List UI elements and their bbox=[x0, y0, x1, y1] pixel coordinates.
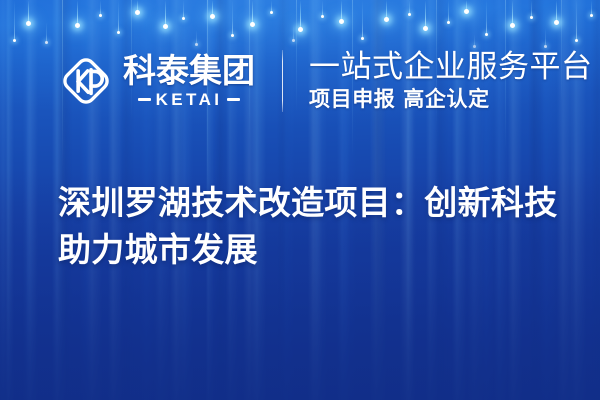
brand-wordmark: 科泰集团 KETAI bbox=[123, 54, 255, 108]
light-meteor bbox=[183, 0, 184, 18]
light-meteor bbox=[300, 0, 301, 30]
slogan-main-text: 一站式企业服务平台 bbox=[309, 52, 593, 84]
brand-name-cn: 科泰集团 bbox=[123, 54, 255, 87]
light-meteor bbox=[409, 0, 410, 14]
ketai-diamond-kp-logo-icon bbox=[58, 53, 114, 109]
light-meteor bbox=[591, 0, 592, 15]
light-meteor bbox=[232, 0, 233, 35]
light-meteor bbox=[212, 0, 213, 17]
light-meteor bbox=[512, 0, 513, 26]
light-meteor bbox=[448, 0, 449, 22]
light-meteor bbox=[425, 0, 426, 29]
light-meteor bbox=[196, 30, 197, 44]
light-meteor bbox=[474, 34, 475, 46]
light-meteor bbox=[466, 0, 467, 12]
light-meteor bbox=[293, 24, 294, 40]
light-meteor bbox=[46, 22, 47, 42]
brand-name-en-row: KETAI bbox=[138, 91, 241, 108]
light-meteor bbox=[100, 0, 101, 15]
slogan-block: 一站式企业服务平台 项目申报 高企认定 bbox=[309, 52, 593, 111]
light-meteor bbox=[556, 0, 557, 23]
rule-left-icon bbox=[138, 98, 151, 101]
light-meteor bbox=[137, 0, 138, 13]
light-meteor bbox=[28, 0, 29, 24]
slogan-sub-text: 项目申报 高企认定 bbox=[309, 88, 593, 110]
banner-headline: 深圳罗湖技术改造项目：创新科技助力城市发展 bbox=[58, 180, 558, 274]
light-meteor bbox=[271, 0, 272, 12]
light-meteor bbox=[77, 0, 78, 26]
light-meteor bbox=[341, 0, 342, 22]
header-divider bbox=[282, 50, 283, 112]
light-meteor bbox=[386, 0, 387, 20]
promo-banner: 科泰集团 KETAI 一站式企业服务平台 项目申报 高企认定 深圳罗湖技术改造项… bbox=[0, 0, 600, 400]
light-meteor bbox=[531, 0, 532, 17]
light-meteor bbox=[322, 0, 323, 16]
light-meteor bbox=[165, 0, 166, 27]
brand-logo-lockup[interactable]: 科泰集团 KETAI bbox=[58, 53, 255, 109]
banner-header: 科泰集团 KETAI 一站式企业服务平台 项目申报 高企认定 bbox=[58, 46, 593, 116]
light-meteor bbox=[576, 0, 577, 40]
light-meteor bbox=[486, 0, 487, 34]
light-meteor bbox=[118, 0, 119, 32]
light-meteor bbox=[252, 0, 253, 25]
light-meteor bbox=[362, 0, 363, 38]
brand-name-en: KETAI bbox=[156, 91, 223, 108]
rule-right-icon bbox=[227, 98, 240, 101]
light-meteor bbox=[545, 28, 546, 46]
light-meteor bbox=[14, 0, 15, 40]
